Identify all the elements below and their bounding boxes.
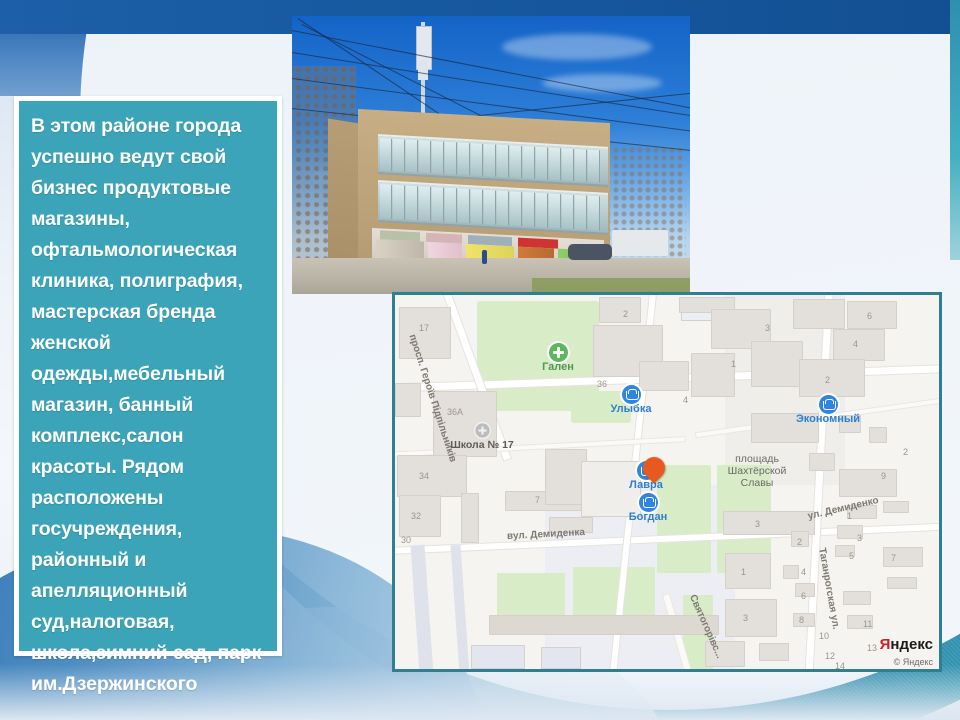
map-house-number: 3: [765, 323, 770, 333]
map-poi-label: Богдан: [613, 511, 683, 523]
school-icon: [475, 423, 489, 437]
map-house-number: 3: [755, 519, 760, 529]
photo-cloud: [502, 34, 652, 60]
map-poi-bogdan[interactable]: Богдан: [613, 493, 683, 523]
map-building: [461, 493, 479, 543]
map-house-number: 30: [401, 535, 411, 545]
shop-basket-icon: [639, 493, 658, 512]
map-building: [599, 297, 641, 323]
map-house-number: 32: [411, 511, 421, 521]
map-poi-galen[interactable]: Гален: [523, 343, 593, 373]
photo-pedestrian: [482, 250, 487, 264]
map-house-number: 6: [867, 311, 872, 321]
map-house-number: 8: [799, 615, 804, 625]
map-place-label: Школа № 17: [417, 439, 547, 451]
map-house-number: 36А: [447, 407, 463, 417]
map-building: [541, 647, 581, 669]
map-poi-label: Лавра: [613, 479, 679, 491]
map-park: [497, 573, 565, 619]
map-house-number: 3: [857, 533, 862, 543]
map-place-label: площадь Шахтёрской Славы: [707, 453, 807, 489]
map-building: [869, 427, 887, 443]
map-building: [397, 455, 467, 497]
photo-van: [612, 230, 668, 256]
yandex-logo[interactable]: Яндекс: [880, 636, 933, 653]
map-building: [691, 353, 735, 397]
map-house-number: 5: [849, 551, 854, 561]
map-house-number: 12: [825, 651, 835, 661]
map-house-number: 7: [535, 495, 540, 505]
map-house-number: 4: [801, 567, 806, 577]
map-building: [793, 299, 845, 329]
map-house-number: 13: [867, 643, 877, 653]
map-house-number: 2: [825, 375, 830, 385]
map-house-number: 2: [623, 309, 628, 319]
map-building: [799, 359, 865, 397]
map-building: [489, 615, 719, 635]
map-house-number: 4: [683, 395, 688, 405]
map-poi-ulybka[interactable]: Улыбка: [595, 385, 667, 415]
description-text-card: В этом районе города успешно ведут свой …: [14, 96, 282, 656]
shop-basket-icon: [622, 385, 641, 404]
map-house-number: 1: [741, 567, 746, 577]
map-building: [395, 383, 421, 417]
map-house-number: 34: [419, 471, 429, 481]
map-building: [725, 553, 771, 589]
map-poi-label: Гален: [523, 361, 593, 373]
map-building: [471, 645, 525, 669]
map-poi-label: Улыбка: [595, 403, 667, 415]
map-house-number: 6: [801, 591, 806, 601]
building-photograph: [292, 16, 690, 294]
pharmacy-cross-icon: [549, 343, 568, 362]
map-building: [759, 643, 789, 661]
map-building: [839, 469, 897, 497]
map-house-number: 10: [819, 631, 829, 641]
map-building: [887, 577, 917, 589]
map-house-number: 4: [853, 339, 858, 349]
map-canvas[interactable]: 17 36А 36 34 32 30 4 2 7 6 4 2 3 1 9 1 3…: [395, 295, 939, 669]
map-building: [883, 547, 923, 567]
map-house-number: 2: [797, 537, 802, 547]
map-house-number: 2: [903, 447, 908, 457]
map-park: [573, 567, 655, 615]
map-building: [725, 599, 777, 637]
description-text: В этом районе города успешно ведут свой …: [31, 111, 269, 700]
map-house-number: 3: [743, 613, 748, 623]
photo-antenna-panel: [418, 60, 428, 80]
background-right-teal-edge: [950, 0, 960, 260]
map-house-number: 14: [835, 661, 845, 671]
yandex-map[interactable]: 17 36А 36 34 32 30 4 2 7 6 4 2 3 1 9 1 3…: [392, 292, 942, 672]
map-building: [833, 329, 885, 361]
map-house-number: 1: [731, 359, 736, 369]
map-building: [809, 453, 835, 471]
map-house-number: 17: [419, 323, 429, 333]
yandex-logo-letter: Я: [880, 636, 891, 653]
photo-car: [568, 244, 612, 260]
map-building: [399, 307, 451, 359]
map-building: [843, 591, 871, 605]
map-poi-ekonomnyy[interactable]: Экономный: [777, 395, 879, 425]
shop-basket-icon: [819, 395, 838, 414]
map-building: [883, 501, 909, 513]
yandex-logo-text: ндекс: [890, 636, 933, 653]
map-building: [783, 565, 799, 579]
map-poi-label: Экономный: [777, 413, 879, 425]
map-building: [751, 341, 803, 387]
map-copyright: © Яндекс: [894, 657, 933, 667]
map-house-number: 7: [891, 553, 896, 563]
presentation-slide: В этом районе города успешно ведут свой …: [0, 0, 960, 720]
map-house-number: 11: [863, 619, 872, 629]
map-house-number: 9: [881, 471, 886, 481]
